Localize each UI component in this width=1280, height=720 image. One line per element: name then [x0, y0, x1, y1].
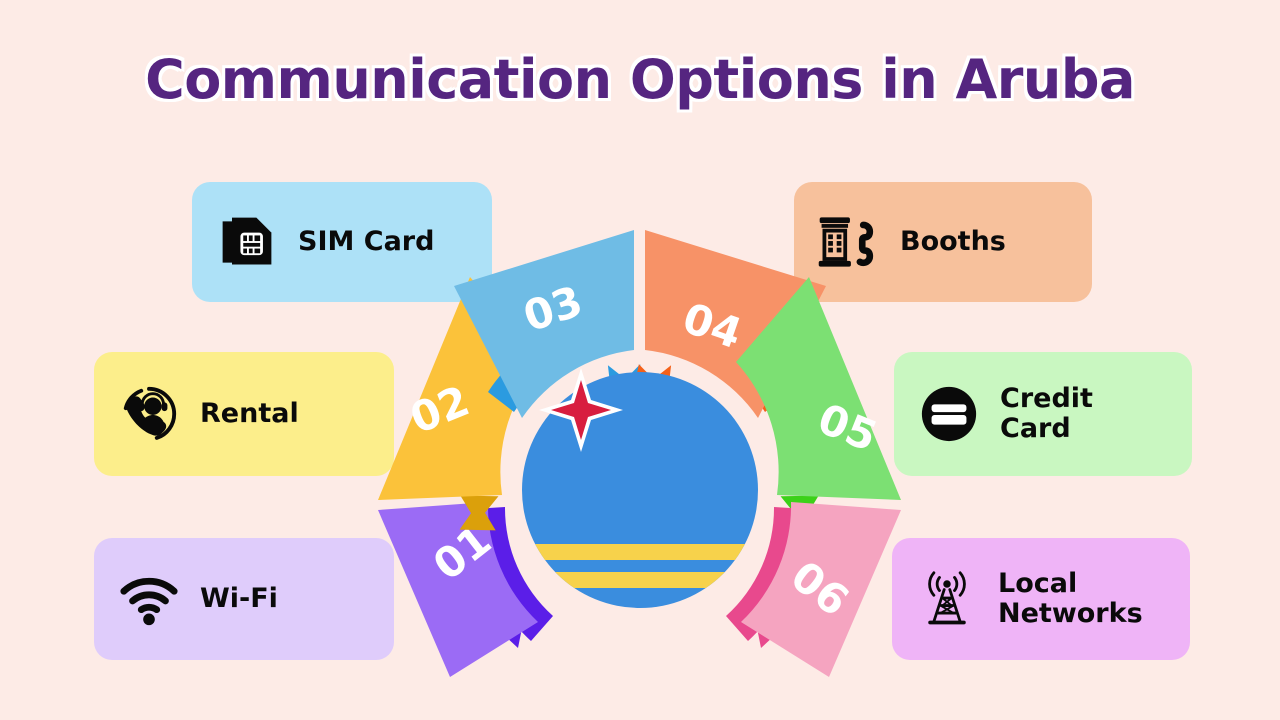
wheel-diagram: 01 02 03 04: [370, 222, 910, 692]
option-card-label: Local Networks: [998, 569, 1143, 629]
option-card-label: Rental: [200, 399, 299, 429]
aruba-flag: [510, 368, 780, 608]
option-card-label: Booths: [900, 227, 1006, 257]
page-title: Communication Options in Aruba: [0, 48, 1280, 111]
option-card-credit-card[interactable]: Credit Card: [894, 352, 1192, 476]
option-card-rental[interactable]: Rental: [94, 352, 394, 476]
option-card-label: Credit Card: [1000, 384, 1093, 444]
wifi-icon: [114, 564, 184, 634]
wheel-segment-06[interactable]: 06: [726, 502, 901, 677]
infographic-canvas: Communication Options in Aruba: [0, 0, 1280, 720]
sim-card-icon: [212, 207, 282, 277]
option-card-label: Wi-Fi: [200, 584, 278, 614]
option-card-local-networks[interactable]: Local Networks: [892, 538, 1190, 660]
radio-tower-icon: [912, 564, 982, 634]
option-card-wi-fi[interactable]: Wi-Fi: [94, 538, 394, 660]
credit-card-icon: [914, 379, 984, 449]
phone-support-icon: [114, 379, 184, 449]
